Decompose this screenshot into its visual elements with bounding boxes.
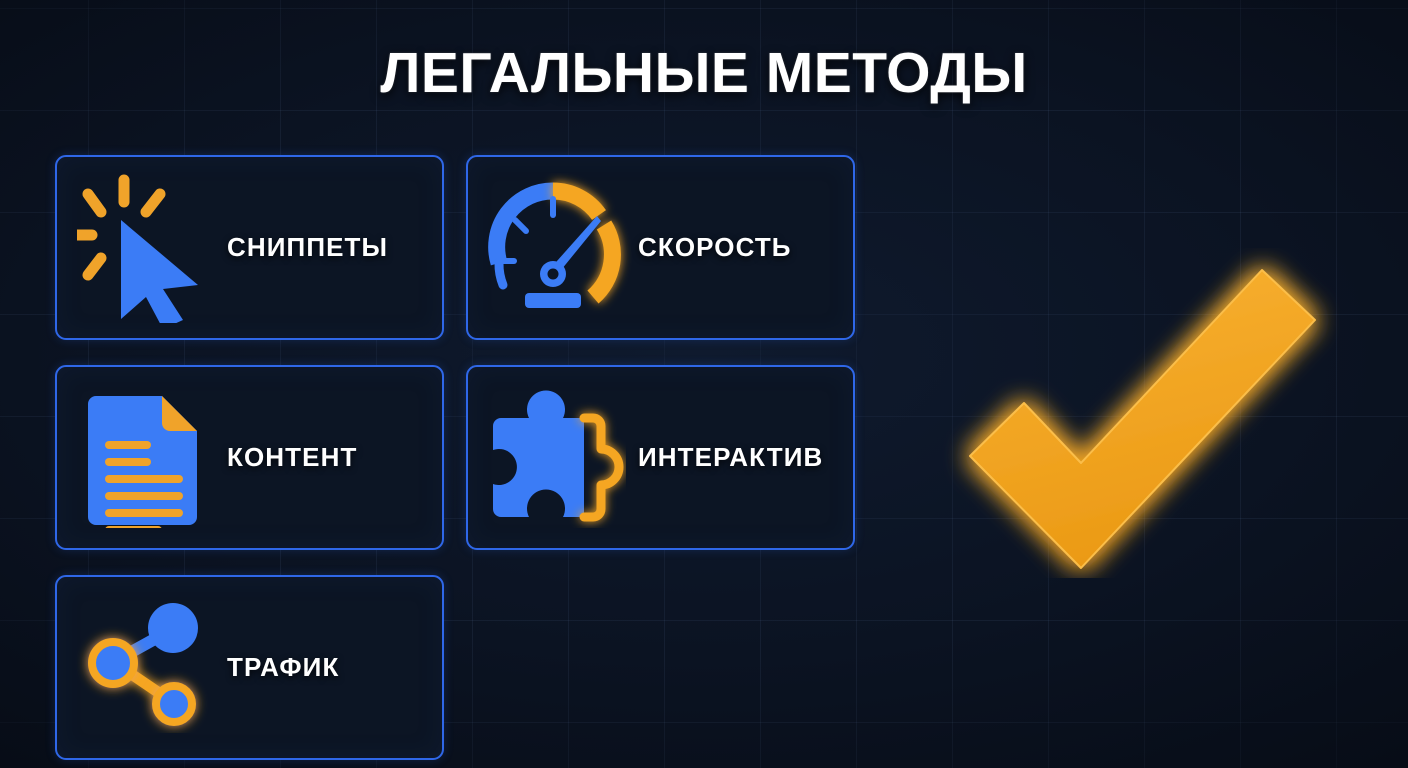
puzzle-piece-icon: [468, 365, 638, 550]
checkmark-icon-svg: [940, 248, 1340, 578]
methods-card-grid: СНИППЕТЫ: [55, 155, 873, 768]
page-title: ЛЕГАЛЬНЫЕ МЕТОДЫ: [0, 40, 1408, 106]
speedometer-icon: [468, 155, 638, 340]
document-lines-icon: [57, 365, 227, 550]
speedometer-icon-svg: [473, 173, 633, 323]
checkmark-icon: [940, 248, 1340, 578]
cursor-click-icon: [57, 155, 227, 340]
card-row: КОНТЕНТ: [55, 365, 873, 550]
card-label: КОНТЕНТ: [227, 442, 357, 473]
card-speed[interactable]: СКОРОСТЬ: [466, 155, 855, 340]
card-traffic[interactable]: ТРАФИК: [55, 575, 444, 760]
card-content[interactable]: КОНТЕНТ: [55, 365, 444, 550]
share-network-icon: [57, 575, 227, 760]
card-label: ТРАФИК: [227, 652, 339, 683]
slide-root: ЛЕГАЛЬНЫЕ МЕТОДЫ: [0, 0, 1408, 768]
card-snippets[interactable]: СНИППЕТЫ: [55, 155, 444, 340]
card-label: СКОРОСТЬ: [638, 232, 792, 263]
puzzle-piece-icon-svg: [481, 388, 626, 528]
card-label: ИНТЕРАКТИВ: [638, 442, 823, 473]
share-network-icon-svg: [75, 603, 210, 733]
document-lines-icon-svg: [80, 388, 205, 528]
card-label: СНИППЕТЫ: [227, 232, 388, 263]
card-row: СНИППЕТЫ: [55, 155, 873, 340]
cursor-click-icon-svg: [77, 173, 207, 323]
card-interactive[interactable]: ИНТЕРАКТИВ: [466, 365, 855, 550]
card-row: ТРАФИК: [55, 575, 873, 760]
